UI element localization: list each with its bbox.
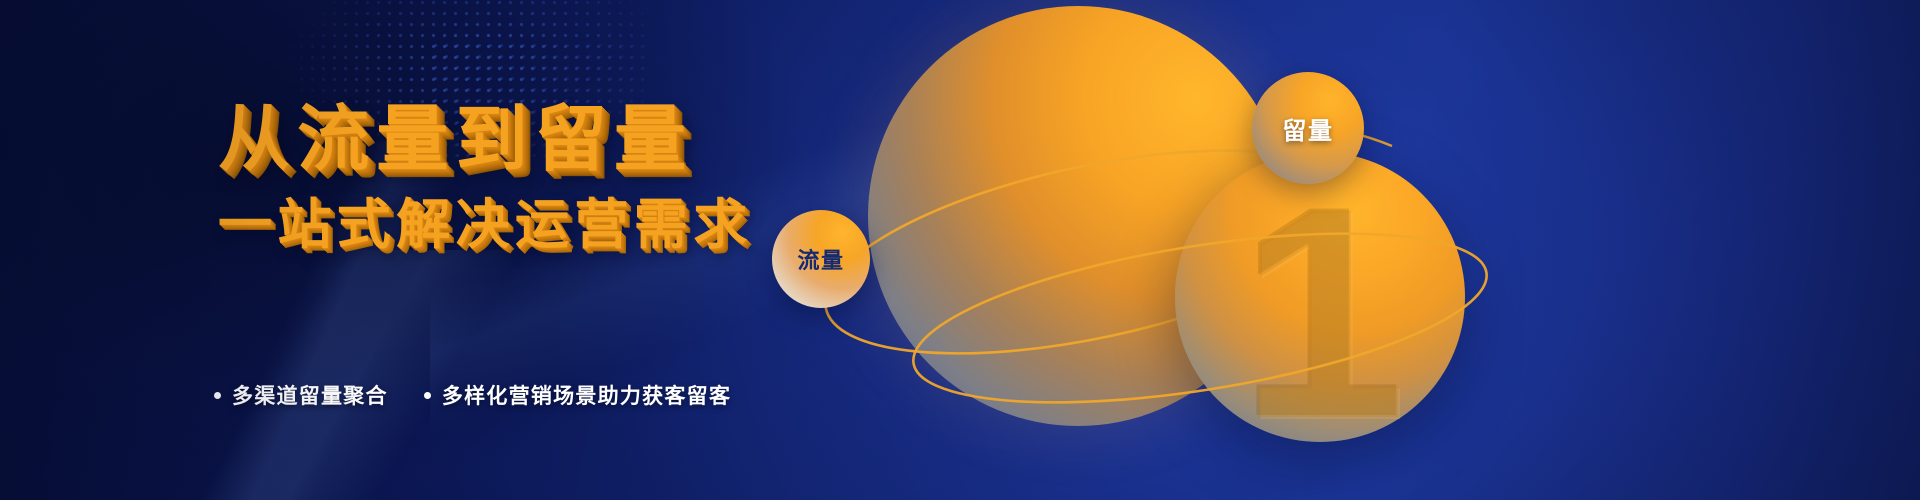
banner-subheadline: 一站式解决运营需求 bbox=[218, 198, 858, 252]
bullet-dot-icon bbox=[424, 392, 431, 399]
sphere-stay-label: 留量 bbox=[1282, 111, 1333, 146]
feature-bullet-1-label: 多渠道留量聚合 bbox=[232, 380, 388, 410]
copy-block: 从流量到留量 一站式解决运营需求 bbox=[218, 104, 858, 252]
numeral-one: 1 bbox=[1208, 168, 1438, 468]
promo-banner: 1 流量 留量 从流量到留量 一站式解决运营需求 多渠道留量聚合 多样化营销场景… bbox=[0, 0, 1920, 500]
banner-headline: 从流量到留量 bbox=[218, 104, 858, 176]
feature-bullet-list: 多渠道留量聚合 多样化营销场景助力获客留客 bbox=[214, 380, 731, 410]
feature-bullet-1: 多渠道留量聚合 bbox=[214, 380, 388, 410]
feature-bullet-2: 多样化营销场景助力获客留客 bbox=[424, 380, 731, 410]
feature-bullet-2-label: 多样化营销场景助力获客留客 bbox=[442, 380, 731, 410]
bullet-dot-icon bbox=[214, 392, 221, 399]
sphere-stay: 留量 bbox=[1252, 72, 1364, 184]
